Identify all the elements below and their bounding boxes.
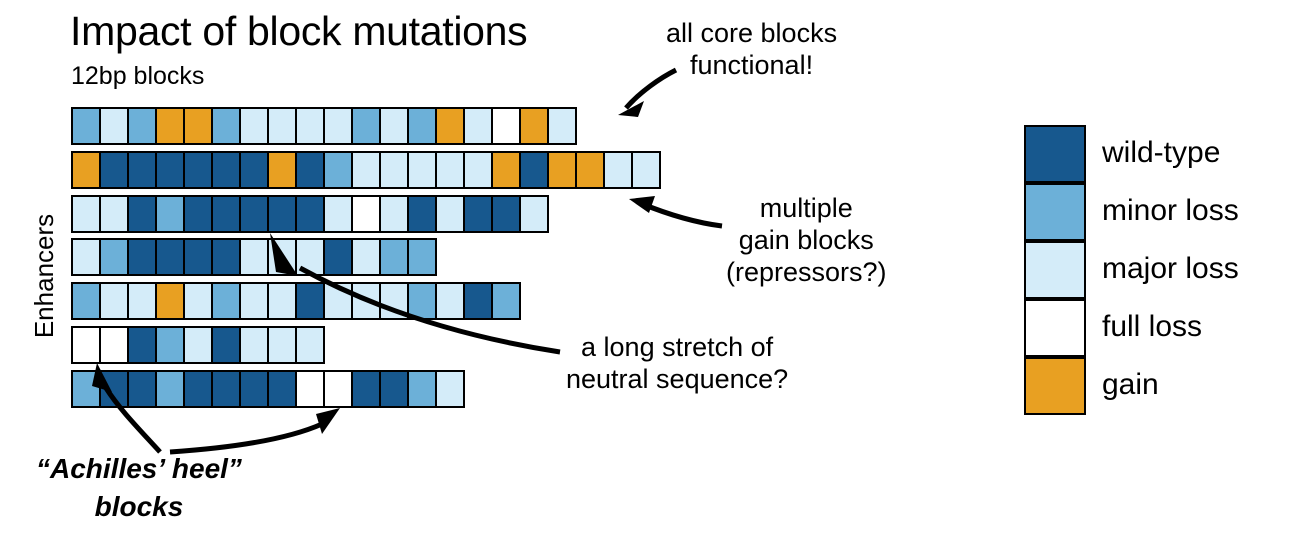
block-full bbox=[493, 109, 521, 143]
block-major bbox=[269, 284, 297, 318]
block-wild bbox=[129, 197, 157, 231]
block-minor bbox=[409, 372, 437, 406]
block-minor bbox=[129, 109, 157, 143]
block-wild bbox=[409, 197, 437, 231]
legend-label-gain: gain bbox=[1102, 369, 1159, 401]
subtitle: 12bp blocks bbox=[71, 62, 204, 90]
block-minor bbox=[157, 328, 185, 362]
block-wild bbox=[241, 372, 269, 406]
block-minor bbox=[157, 372, 185, 406]
block-gain bbox=[157, 109, 185, 143]
block-wild bbox=[241, 197, 269, 231]
block-wild bbox=[297, 284, 325, 318]
enhancer-row bbox=[71, 238, 437, 276]
block-major bbox=[409, 153, 437, 187]
block-major bbox=[101, 197, 129, 231]
block-minor bbox=[409, 109, 437, 143]
block-major bbox=[297, 109, 325, 143]
block-minor bbox=[157, 197, 185, 231]
legend-swatch-full bbox=[1024, 299, 1086, 357]
block-major bbox=[325, 109, 353, 143]
block-major bbox=[185, 284, 213, 318]
block-gain bbox=[577, 153, 605, 187]
enhancer-row bbox=[71, 282, 521, 320]
annotation-long-stretch-neutral-sequence: a long stretch of neutral sequence? bbox=[566, 331, 788, 395]
block-minor bbox=[101, 240, 129, 274]
block-major bbox=[353, 240, 381, 274]
legend-item-gain: gain bbox=[1024, 356, 1239, 414]
block-full bbox=[73, 328, 101, 362]
legend-item-full: full loss bbox=[1024, 298, 1239, 356]
block-gain bbox=[157, 284, 185, 318]
block-minor bbox=[409, 284, 437, 318]
legend-swatch-wild bbox=[1024, 125, 1086, 183]
block-major bbox=[437, 153, 465, 187]
block-wild bbox=[269, 197, 297, 231]
block-full bbox=[101, 328, 129, 362]
block-major bbox=[381, 153, 409, 187]
block-wild bbox=[101, 153, 129, 187]
block-major bbox=[437, 197, 465, 231]
block-gain bbox=[437, 109, 465, 143]
block-wild bbox=[157, 240, 185, 274]
legend-swatch-gain bbox=[1024, 357, 1086, 415]
legend-swatch-minor bbox=[1024, 183, 1086, 241]
block-gain bbox=[549, 153, 577, 187]
block-minor bbox=[381, 240, 409, 274]
block-minor bbox=[493, 284, 519, 318]
enhancer-row bbox=[71, 151, 661, 189]
block-wild bbox=[325, 240, 353, 274]
block-wild bbox=[129, 328, 157, 362]
annotation-achilles-heel-blocks: “Achilles’ heel” blocks bbox=[36, 450, 242, 526]
block-gain bbox=[521, 109, 549, 143]
legend-label-minor: minor loss bbox=[1102, 195, 1239, 227]
block-minor bbox=[353, 109, 381, 143]
block-major bbox=[465, 109, 493, 143]
block-major bbox=[381, 284, 409, 318]
block-wild bbox=[129, 372, 157, 406]
block-wild bbox=[185, 240, 213, 274]
block-major bbox=[353, 284, 381, 318]
block-major bbox=[381, 197, 409, 231]
block-minor bbox=[325, 153, 353, 187]
block-major bbox=[185, 328, 213, 362]
block-minor bbox=[213, 284, 241, 318]
arrow-gain-blocks bbox=[629, 196, 722, 226]
legend: wild-typeminor lossmajor lossfull lossga… bbox=[1024, 124, 1239, 414]
block-major bbox=[129, 284, 157, 318]
legend-item-minor: minor loss bbox=[1024, 182, 1239, 240]
block-wild bbox=[493, 197, 521, 231]
block-major bbox=[241, 240, 269, 274]
block-major bbox=[353, 153, 381, 187]
legend-item-major: major loss bbox=[1024, 240, 1239, 298]
block-wild bbox=[521, 153, 549, 187]
enhancer-row bbox=[71, 107, 577, 145]
legend-item-wild: wild-type bbox=[1024, 124, 1239, 182]
legend-label-major: major loss bbox=[1102, 253, 1239, 285]
legend-label-wild: wild-type bbox=[1102, 137, 1220, 169]
block-wild bbox=[157, 153, 185, 187]
page-title: Impact of block mutations bbox=[70, 8, 527, 54]
block-major bbox=[241, 328, 269, 362]
block-wild bbox=[241, 153, 269, 187]
block-wild bbox=[381, 372, 409, 406]
block-full bbox=[353, 197, 381, 231]
block-major bbox=[325, 284, 353, 318]
enhancer-row bbox=[71, 195, 549, 233]
annotation-all-core-blocks-functional: all core blocks functional! bbox=[666, 17, 837, 81]
block-gain bbox=[185, 109, 213, 143]
legend-swatch-major bbox=[1024, 241, 1086, 299]
enhancer-row bbox=[71, 370, 465, 408]
block-wild bbox=[101, 372, 129, 406]
block-wild bbox=[465, 284, 493, 318]
block-major bbox=[297, 240, 325, 274]
block-major bbox=[381, 109, 409, 143]
enhancer-row bbox=[71, 326, 325, 364]
annotation-multiple-gain-blocks: multiple gain blocks (repressors?) bbox=[726, 192, 887, 288]
block-full bbox=[297, 372, 325, 406]
block-gain bbox=[73, 153, 101, 187]
block-wild bbox=[353, 372, 381, 406]
block-full bbox=[325, 372, 353, 406]
block-major bbox=[73, 240, 101, 274]
block-wild bbox=[213, 240, 241, 274]
block-wild bbox=[213, 372, 241, 406]
block-major bbox=[437, 372, 463, 406]
y-axis-label: Enhancers bbox=[30, 196, 58, 356]
block-major bbox=[549, 109, 575, 143]
block-major bbox=[101, 109, 129, 143]
block-minor bbox=[73, 284, 101, 318]
block-wild bbox=[185, 153, 213, 187]
block-major bbox=[297, 328, 323, 362]
block-wild bbox=[213, 153, 241, 187]
arrow-achilles-right bbox=[170, 408, 340, 452]
block-major bbox=[101, 284, 129, 318]
block-major bbox=[241, 284, 269, 318]
block-major bbox=[269, 109, 297, 143]
block-wild bbox=[213, 328, 241, 362]
block-major bbox=[521, 197, 547, 231]
block-wild bbox=[213, 197, 241, 231]
block-major bbox=[73, 197, 101, 231]
figure-canvas: Impact of block mutations 12bp blocks En… bbox=[0, 0, 1296, 548]
block-minor bbox=[213, 109, 241, 143]
block-wild bbox=[185, 197, 213, 231]
block-major bbox=[241, 109, 269, 143]
block-major bbox=[325, 197, 353, 231]
block-major bbox=[437, 284, 465, 318]
block-major bbox=[465, 153, 493, 187]
block-wild bbox=[297, 197, 325, 231]
block-major bbox=[269, 328, 297, 362]
block-wild bbox=[297, 153, 325, 187]
block-wild bbox=[269, 372, 297, 406]
block-minor bbox=[409, 240, 435, 274]
block-gain bbox=[493, 153, 521, 187]
block-major bbox=[605, 153, 633, 187]
block-wild bbox=[129, 240, 157, 274]
block-minor bbox=[73, 109, 101, 143]
legend-label-full: full loss bbox=[1102, 311, 1202, 343]
block-minor bbox=[73, 372, 101, 406]
block-wild bbox=[129, 153, 157, 187]
block-wild bbox=[185, 372, 213, 406]
block-major bbox=[269, 240, 297, 274]
block-major bbox=[633, 153, 659, 187]
block-wild bbox=[465, 197, 493, 231]
block-gain bbox=[269, 153, 297, 187]
